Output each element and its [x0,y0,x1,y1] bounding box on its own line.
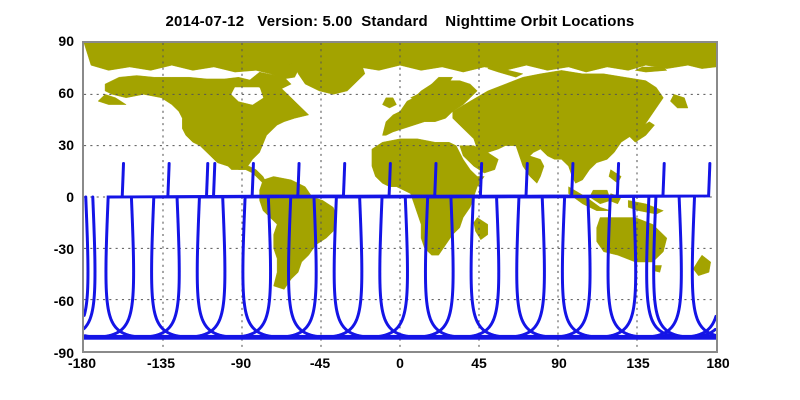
orbit-track-13 [168,163,169,196]
polar-convergence-band [84,335,716,340]
x-tick-135: 135 [608,355,668,371]
y-tick-90: 90 [28,33,74,49]
y-tick--30: -30 [28,241,74,257]
world-map-svg [84,43,716,351]
y-tick-30: 30 [28,137,74,153]
orbit-locations-figure: 2014-07-12 Version: 5.00 Standard Nightt… [0,0,800,400]
orbit-track-14 [214,163,215,196]
x-tick-45: 45 [449,355,509,371]
x-tick--45: -45 [290,355,350,371]
map-plot-area [82,41,718,353]
x-tick-90: 90 [529,355,589,371]
orbit-track-0 [207,163,208,196]
y-tick-60: 60 [28,85,74,101]
y-tick-0: 0 [28,189,74,205]
x-tick-0: 0 [370,355,430,371]
x-tick--135: -135 [131,355,191,371]
x-tick-180: 180 [688,355,748,371]
orbit-track-1 [252,163,253,196]
x-tick--180: -180 [52,355,112,371]
x-tick--90: -90 [211,355,271,371]
y-tick--60: -60 [28,293,74,309]
orbit-track-12 [122,163,123,196]
page-title: 2014-07-12 Version: 5.00 Standard Nightt… [0,13,800,30]
